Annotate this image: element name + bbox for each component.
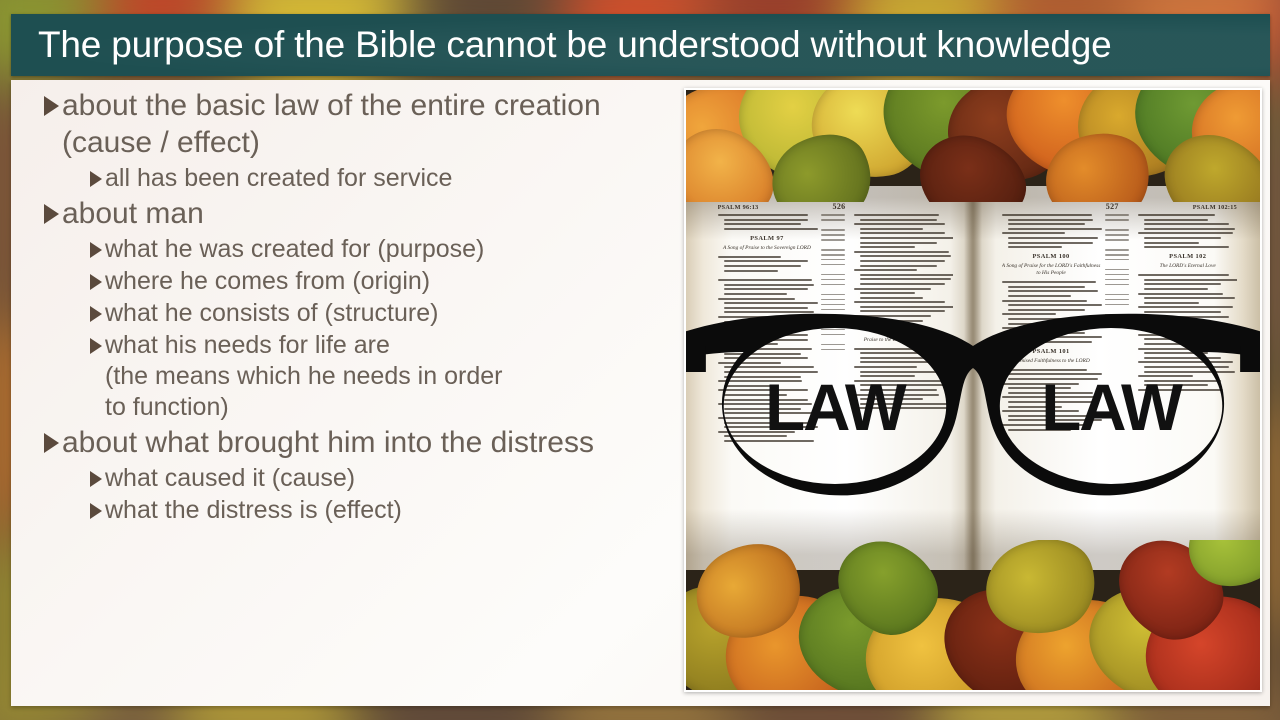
list-item: about man (44, 195, 664, 232)
list-item-label: what he consists of (structure) (105, 298, 438, 329)
psalm-subtitle: A Song of Praise to the Sovereign LORD (718, 245, 817, 252)
right-running-head: PSALM 102:15 (1193, 204, 1237, 211)
text-column: PSALM 97 A Song of Praise to the Soverei… (718, 214, 817, 558)
triangle-bullet-icon (90, 171, 102, 187)
triangle-bullet-icon (90, 274, 102, 290)
list-item-label: about the basic law of the entire creati… (62, 87, 664, 161)
page-title: The purpose of the Bible cannot be under… (11, 24, 1111, 66)
left-page-header: PSALM 96:13 526 (718, 202, 953, 214)
slide: The purpose of the Bible cannot be under… (0, 0, 1280, 720)
right-page-columns: PSALM 100 A Song of Praise for the LORD'… (1002, 214, 1237, 558)
list-item-label: what caused it (cause) (105, 463, 355, 494)
list-item-label: what he was created for (purpose) (105, 234, 484, 265)
psalm-heading: PSALM 100 (1002, 253, 1101, 260)
list-item-label: what the distress is (effect) (105, 495, 402, 526)
list-item: what the distress is (effect) (90, 495, 664, 526)
psalm-heading: PSALM 97 (718, 235, 817, 242)
triangle-bullet-icon (44, 204, 59, 224)
triangle-bullet-icon (90, 503, 102, 519)
psalm-subtitle: Promised Faithfulness to the LORD (1002, 358, 1101, 365)
list-item-label: about man (62, 195, 204, 232)
psalm-subtitle: Praise to the LORD for His Holiness (854, 337, 953, 344)
list-item-label: where he comes from (origin) (105, 266, 430, 297)
triangle-bullet-icon (90, 306, 102, 322)
list-item-label: what his needs for life are (the means w… (105, 330, 502, 423)
list-item: what his needs for life are (the means w… (90, 330, 664, 423)
right-page-number: 527 (1106, 202, 1119, 211)
bullet-list: about the basic law of the entire creati… (44, 87, 664, 527)
left-running-head: PSALM 96:13 (718, 204, 759, 211)
list-item-label: all has been created for service (105, 163, 452, 194)
bible-photo-frame: PSALM 96:13 526 PSALM 97 A Song of Prais… (684, 88, 1262, 692)
list-item: what he consists of (structure) (90, 298, 664, 329)
slide-title-bar: The purpose of the Bible cannot be under… (11, 14, 1270, 76)
bible-photo: PSALM 96:13 526 PSALM 97 A Song of Prais… (686, 90, 1260, 690)
psalm-subtitle: A Song of Praise for the LORD's Faithful… (1002, 263, 1101, 277)
triangle-bullet-icon (44, 433, 59, 453)
text-column: PSALM 99 Praise to the LORD for His Holi… (854, 214, 953, 558)
list-item: about what brought him into the distress (44, 424, 664, 461)
list-item: where he comes from (origin) (90, 266, 664, 297)
book-left-page: PSALM 96:13 526 PSALM 97 A Song of Prais… (718, 202, 953, 560)
cross-reference-column (821, 214, 849, 558)
list-item-label: about what brought him into the distress (62, 424, 594, 461)
left-page-number: 526 (833, 202, 846, 211)
psalm-heading: PSALM 101 (1002, 348, 1101, 355)
list-item: what caused it (cause) (90, 463, 664, 494)
open-book: PSALM 96:13 526 PSALM 97 A Song of Prais… (686, 186, 1260, 570)
text-column: PSALM 100 A Song of Praise for the LORD'… (1002, 214, 1101, 558)
psalm-heading: PSALM 99 (854, 327, 953, 334)
psalm-heading: PSALM 102 (1138, 253, 1237, 260)
list-item: all has been created for service (90, 163, 664, 194)
book-right-page: 527 PSALM 102:15 PSALM 100 A Song of Pra… (1002, 202, 1237, 560)
text-column: PSALM 102 The LORD's Eternal Love (1138, 214, 1237, 558)
triangle-bullet-icon (90, 338, 102, 354)
list-item: what he was created for (purpose) (90, 234, 664, 265)
right-page-header: 527 PSALM 102:15 (1002, 202, 1237, 214)
psalm-subtitle: The LORD's Eternal Love (1138, 263, 1237, 270)
left-page-columns: PSALM 97 A Song of Praise to the Soverei… (718, 214, 953, 558)
triangle-bullet-icon (90, 242, 102, 258)
triangle-bullet-icon (90, 471, 102, 487)
cross-reference-column (1105, 214, 1133, 558)
autumn-leaves-top (686, 90, 1260, 202)
list-item: about the basic law of the entire creati… (44, 87, 664, 161)
slide-content-panel: about the basic law of the entire creati… (11, 80, 1270, 706)
autumn-leaves-bottom (686, 540, 1260, 690)
triangle-bullet-icon (44, 96, 59, 116)
